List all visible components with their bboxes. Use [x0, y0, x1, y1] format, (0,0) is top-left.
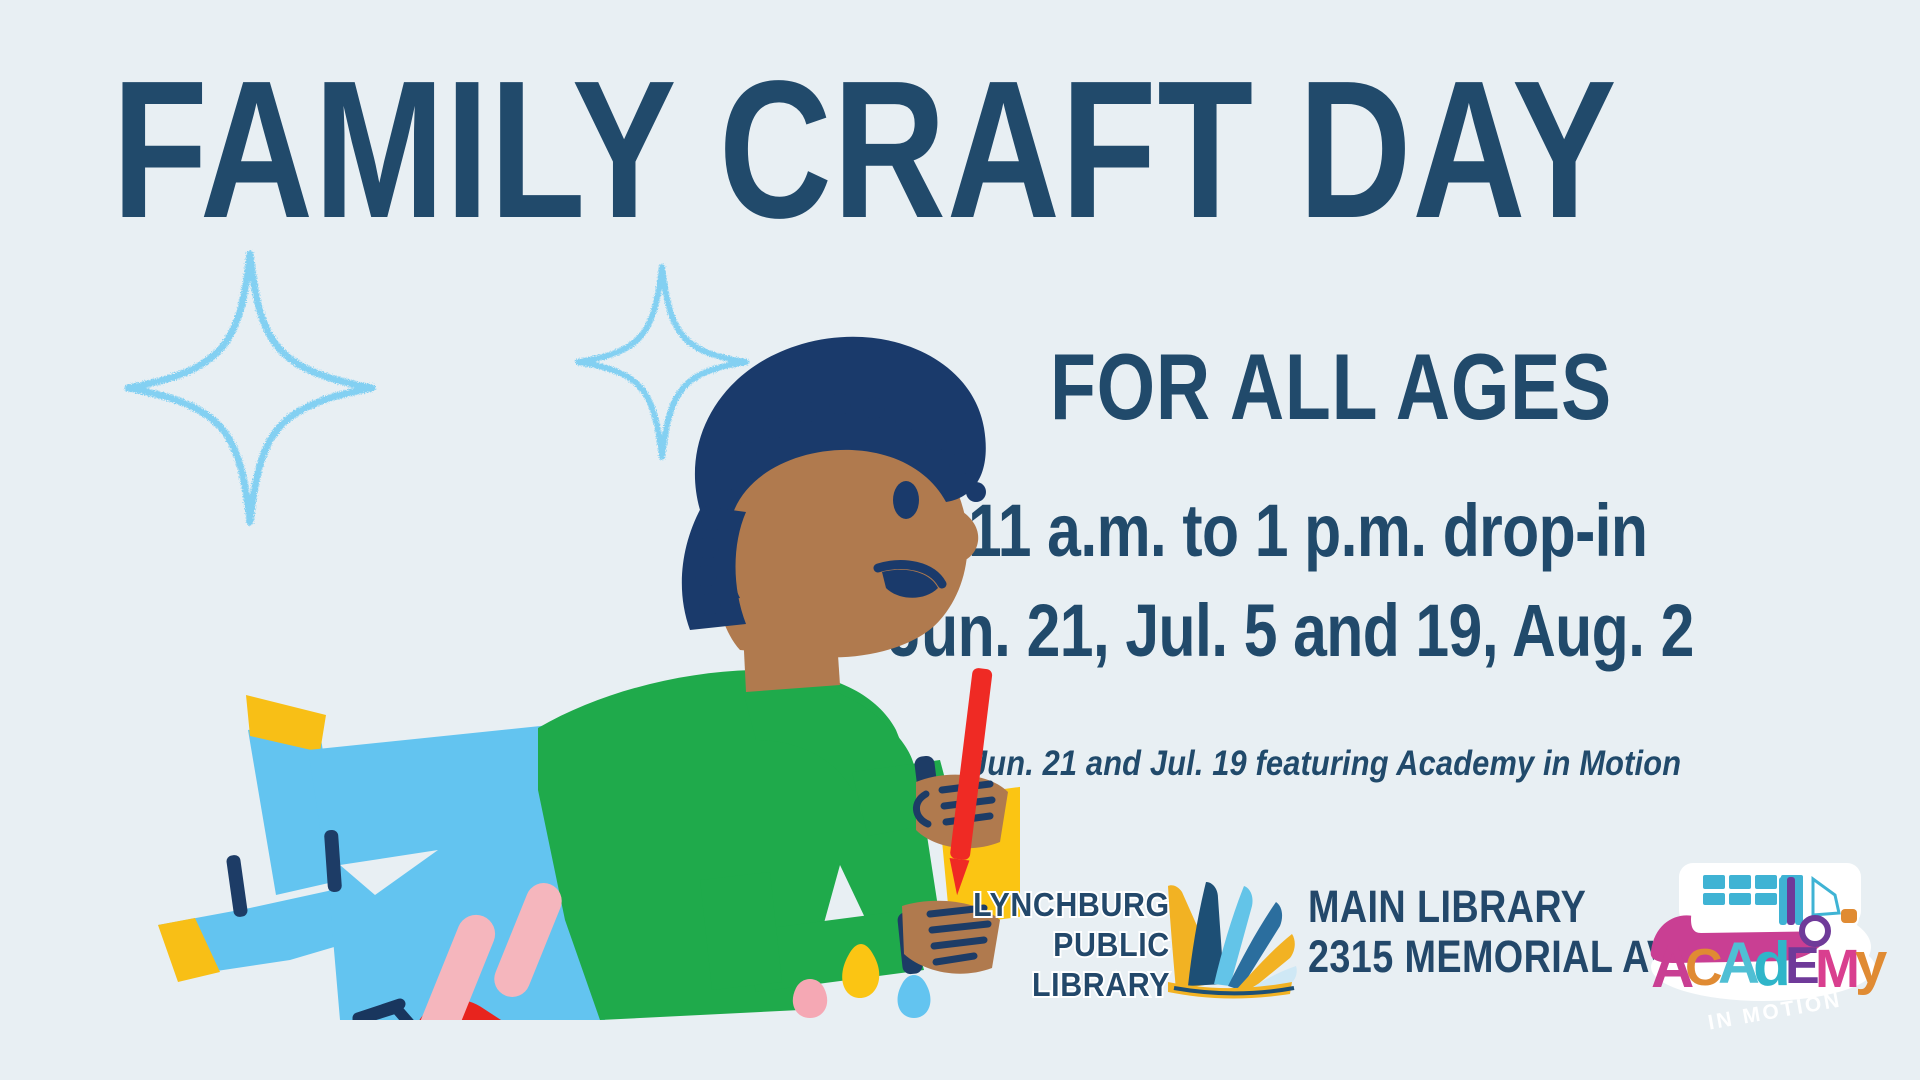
lpl-logo-line-3: LIBRARY [1032, 966, 1170, 1004]
lpl-logo-line-2: PUBLIC [1053, 926, 1170, 964]
pant-seam-a [226, 854, 248, 917]
subtitle: FOR ALL AGES [1050, 340, 1612, 434]
featuring-note: Jun. 21 and Jul. 19 featuring Academy in… [970, 744, 1681, 784]
open-book-icon [1158, 870, 1298, 1000]
svg-text:C: C [1685, 939, 1723, 997]
time-line: 11 a.m. to 1 p.m. drop-in [968, 494, 1647, 568]
poster-canvas: FAMILY CRAFT DAY FOR ALL AGES 11 a.m. to… [0, 0, 1920, 1080]
arm-lower-elbow [700, 872, 782, 990]
academy-wordmark: A C A d E M y [1651, 930, 1887, 1000]
footer-bar: LYNCHBURG PUBLIC LIBRARY MAIN LIBRARY 23… [1000, 860, 1890, 1050]
child-drawing-illustration [40, 320, 1020, 1020]
page-title: FAMILY CRAFT DAY [112, 60, 1617, 240]
svg-text:y: y [1855, 931, 1887, 996]
lpl-logo-line-1: LYNCHBURG [973, 886, 1170, 924]
eye [893, 481, 919, 519]
lynchburg-public-library-logo: LYNCHBURG PUBLIC LIBRARY [1000, 870, 1290, 1000]
